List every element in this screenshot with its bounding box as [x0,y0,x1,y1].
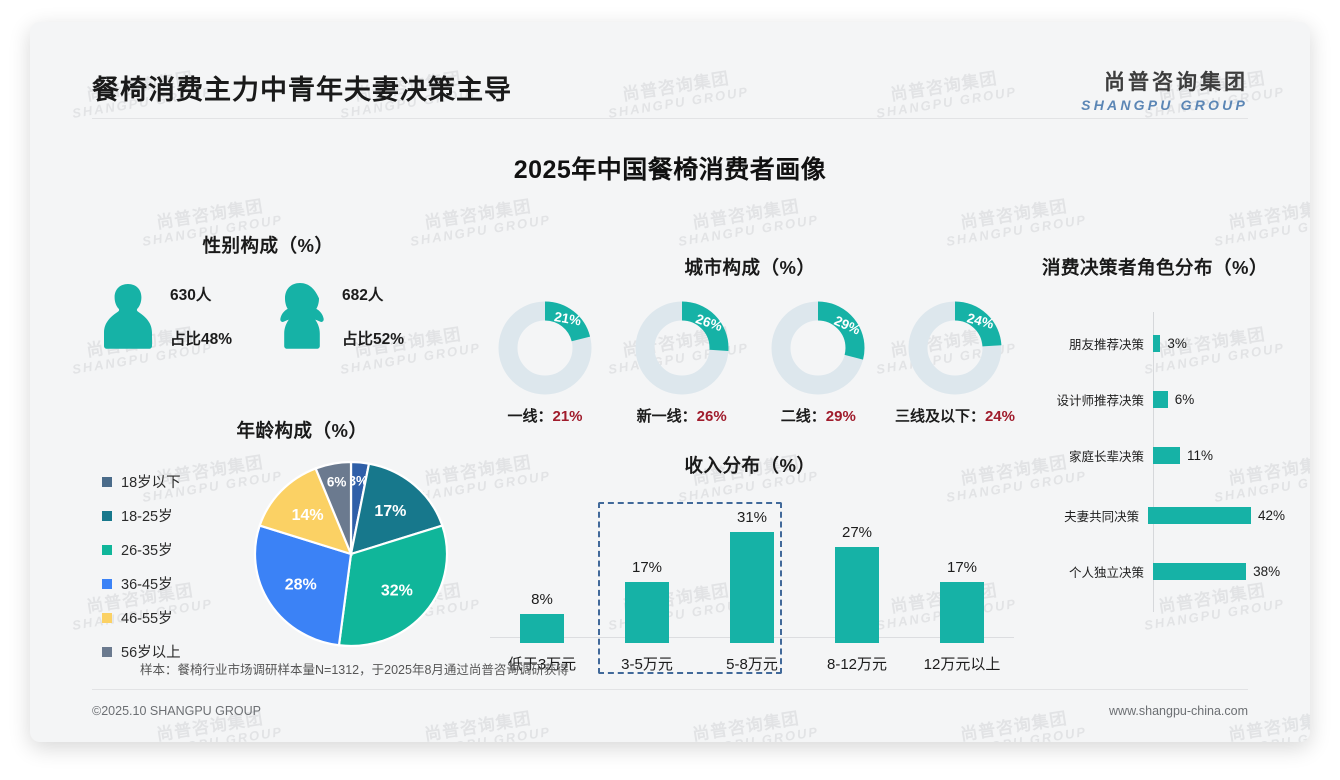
legend-label: 26-35岁 [121,539,173,560]
legend-swatch-icon [102,613,112,623]
role-bar-wrap: 11% [1153,447,1213,464]
income-distribution-panel: 收入分布（%） 8%低于3万元17%3-5万元31%5-8万元27%8-12万元… [480,452,1020,682]
gender-share: 占比52% [342,327,404,349]
role-bar-wrap: 3% [1153,335,1187,352]
role-bar-chart: 朋友推荐决策3%设计师推荐决策6%家庭长辈决策11%夫妻共同决策42%个人独立决… [1025,312,1285,612]
donut-caption: 二线：29% [753,405,883,426]
gender-count: 630人 [170,283,232,305]
legend-swatch-icon [102,477,112,487]
pie-slice-label: 32% [381,582,413,599]
gender-stats: 630人占比48% [170,283,232,349]
role-bar-row[interactable]: 朋友推荐决策3% [1025,330,1285,356]
income-bar[interactable] [940,582,984,643]
donut-svg: 21% [497,300,593,396]
donut-caption-value: 26% [697,408,727,425]
role-bar-row[interactable]: 设计师推荐决策6% [1025,386,1285,412]
logo-text-en: SHANGPU GROUP [1081,97,1248,113]
pie-slice-label: 14% [292,507,324,524]
legend-label: 18岁以下 [121,471,181,492]
donut-caption-name: 二线： [781,408,826,425]
income-bar-value: 8% [492,591,592,608]
chart-main-title: 2025年中国餐椅消费者画像 [30,150,1310,186]
income-bar-category: 8-12万元 [807,653,907,674]
city-donut-row: 21%一线：21%26%新一线：26%29%二线：29%24%三线及以下：24% [480,300,1020,426]
page-title: 餐椅消费主力中青年夫妻决策主导 [92,68,512,107]
role-bar[interactable] [1153,563,1246,580]
watermark-text: 尚普咨询集团SHANGPU GROUP [942,706,1088,742]
legend-item[interactable]: 26-35岁 [102,539,181,560]
age-legend: 18岁以下18-25岁26-35岁36-45岁46-55岁56岁以上 [102,471,181,675]
role-bar-wrap: 6% [1153,391,1194,408]
income-bar-stack: 17% [597,492,697,643]
role-category-label: 夫妻共同决策 [1025,506,1144,525]
footer-divider [92,689,1248,690]
role-bar-wrap: 38% [1153,563,1280,580]
city-panel-title: 城市构成（%） [480,254,1020,280]
donut-caption-value: 29% [826,408,856,425]
income-bar-value: 17% [912,559,1012,576]
donut-caption: 新一线：26% [617,405,747,426]
role-bar-value: 42% [1258,508,1285,523]
pie-slice-label: 17% [374,503,406,520]
role-bar-value: 6% [1175,392,1195,407]
income-bar[interactable] [835,547,879,643]
donut-caption-value: 21% [552,408,582,425]
role-bar[interactable] [1148,507,1251,524]
income-bar-value: 17% [597,559,697,576]
donut-caption-name: 新一线： [637,408,697,425]
slide-card: 尚普咨询集团SHANGPU GROUP尚普咨询集团SHANGPU GROUP尚普… [30,22,1310,742]
income-panel-title: 收入分布（%） [480,452,1020,478]
income-bar-stack: 17% [912,492,1012,643]
copyright-text: ©2025.10 SHANGPU GROUP [92,704,261,718]
gender-composition-panel: 性别构成（%） 630人占比48%682人占比52% [92,232,444,352]
slide-header: 餐椅消费主力中青年夫妻决策主导 尚普咨询集团 SHANGPU GROUP [30,22,1310,100]
gender-count: 682人 [342,283,404,305]
brand-logo: 尚普咨询集团 SHANGPU GROUP [1081,66,1248,113]
income-bar-category: 3-5万元 [597,653,697,674]
gender-item-female: 682人占比52% [272,280,444,352]
male-figure-icon [100,280,156,352]
female-figure-icon [272,280,328,352]
decision-role-panel: 消费决策者角色分布（%） 朋友推荐决策3%设计师推荐决策6%家庭长辈决策11%夫… [1025,254,1285,624]
watermark-text: 尚普咨询集团SHANGPU GROUP [674,194,820,249]
legend-swatch-icon [102,647,112,657]
legend-item[interactable]: 36-45岁 [102,573,181,594]
watermark-text: 尚普咨询集团SHANGPU GROUP [406,706,552,742]
income-bar-stack: 27% [807,492,907,643]
watermark-text: 尚普咨询集团SHANGPU GROUP [1210,194,1310,249]
income-bar-column[interactable]: 8%低于3万元 [492,492,592,674]
donut-percent-label: 21% [553,309,582,328]
income-bar-column[interactable]: 27%8-12万元 [807,492,907,674]
role-bar-row[interactable]: 夫妻共同决策42% [1025,502,1285,528]
website-text[interactable]: www.shangpu-china.com [1109,704,1248,718]
donut-svg: 29% [770,300,866,396]
age-panel-title: 年龄构成（%） [132,417,472,443]
role-bar[interactable] [1153,335,1160,352]
watermark-text: 尚普咨询集团SHANGPU GROUP [942,194,1088,249]
income-bar-chart: 8%低于3万元17%3-5万元31%5-8万元27%8-12万元17%12万元以… [480,494,1020,674]
sample-note: 样本：餐椅行业市场调研样本量N=1312，于2025年8月通过尚普咨询调研获得 [140,659,569,678]
donut-percent-label: 24% [965,310,995,332]
donut-caption-value: 24% [985,408,1015,425]
gender-items: 630人占比48%682人占比52% [92,280,444,352]
donut-caption-name: 一线： [507,408,552,425]
legend-item[interactable]: 18岁以下 [102,471,181,492]
city-composition-panel: 城市构成（%） 21%一线：21%26%新一线：26%29%二线：29%24%三… [480,254,1020,426]
income-bar[interactable] [625,582,669,643]
city-donut-item: 26%新一线：26% [617,300,747,426]
watermark-text: 尚普咨询集团SHANGPU GROUP [674,706,820,742]
income-bar-stack: 8% [492,492,592,643]
donut-caption-name: 三线及以下： [895,408,985,425]
role-bar[interactable] [1153,391,1168,408]
legend-item[interactable]: 46-55岁 [102,607,181,628]
income-bar-stack: 31% [702,492,802,643]
gender-share: 占比48% [170,327,232,349]
role-bar-row[interactable]: 家庭长辈决策11% [1025,442,1285,468]
donut-svg: 24% [907,300,1003,396]
role-category-label: 个人独立决策 [1025,562,1149,581]
legend-label: 46-55岁 [121,607,173,628]
pie-slice-label: 6% [327,475,347,490]
role-bar[interactable] [1153,447,1180,464]
legend-swatch-icon [102,511,112,521]
role-bar-value: 3% [1167,336,1187,351]
legend-swatch-icon [102,545,112,555]
income-bar-value: 31% [702,509,802,526]
header-divider [92,118,1248,119]
income-bar-column[interactable]: 17%12万元以上 [912,492,1012,674]
age-chart-body: 18岁以下18-25岁26-35岁36-45岁46-55岁56岁以上 3%17%… [92,457,472,662]
role-bar-wrap: 42% [1148,507,1285,524]
legend-label: 36-45岁 [121,573,173,594]
income-bar-column[interactable]: 31%5-8万元 [702,492,802,674]
role-bar-row[interactable]: 个人独立决策38% [1025,558,1285,584]
legend-label: 18-25岁 [121,505,173,526]
city-donut-item: 29%二线：29% [753,300,883,426]
role-category-label: 家庭长辈决策 [1025,446,1149,465]
income-bar-category: 5-8万元 [702,653,802,674]
gender-stats: 682人占比52% [342,283,404,349]
age-pie-chart: 3%17%32%28%14%6% [250,457,462,657]
income-bar[interactable] [520,614,564,643]
role-category-label: 朋友推荐决策 [1025,334,1149,353]
income-bar-value: 27% [807,524,907,541]
donut-svg: 26% [634,300,730,396]
pie-slice-label: 28% [285,577,317,594]
age-composition-panel: 年龄构成（%） 18岁以下18-25岁26-35岁36-45岁46-55岁56岁… [92,417,472,682]
role-category-label: 设计师推荐决策 [1025,390,1149,409]
logo-text-cn: 尚普咨询集团 [1081,66,1248,96]
gender-panel-title: 性别构成（%） [92,232,444,258]
income-bar-column[interactable]: 17%3-5万元 [597,492,697,674]
role-bar-value: 38% [1253,564,1280,579]
donut-caption: 三线及以下：24% [890,405,1020,426]
donut-caption: 一线：21% [480,405,610,426]
age-pie-svg: 3%17%32%28%14%6% [250,457,462,657]
role-bar-value: 11% [1187,448,1213,463]
role-panel-title: 消费决策者角色分布（%） [1025,254,1285,280]
city-donut-item: 24%三线及以下：24% [890,300,1020,426]
income-bar[interactable] [730,532,774,643]
gender-item-male: 630人占比48% [100,280,272,352]
income-bar-category: 12万元以上 [912,653,1012,674]
city-donut-item: 21%一线：21% [480,300,610,426]
legend-item[interactable]: 18-25岁 [102,505,181,526]
legend-swatch-icon [102,579,112,589]
